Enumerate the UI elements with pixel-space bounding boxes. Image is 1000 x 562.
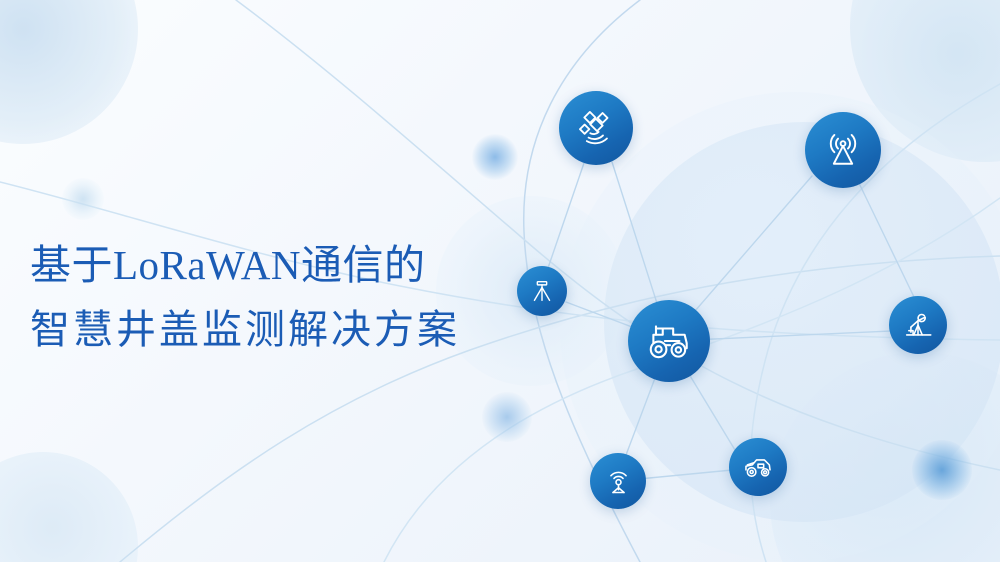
slide-title: 基于LoRaWAN通信的 智慧井盖监测解决方案 (30, 232, 460, 363)
background-blob-bottom-left (0, 452, 138, 562)
glow-dot-lower-right (912, 440, 972, 500)
satellite-dish-icon (575, 107, 617, 149)
signal-beacon-icon (602, 465, 635, 498)
glow-dot-left-edge (62, 178, 104, 220)
node-oil-pump[interactable] (889, 296, 947, 354)
background-blob-bottom-right (770, 352, 1000, 562)
oil-pumpjack-icon (901, 308, 935, 342)
node-satellite[interactable] (559, 91, 633, 165)
glow-dot-mid-left (482, 392, 532, 442)
background-blob-top-left (0, 0, 138, 144)
harvester-vehicle-icon (741, 450, 775, 484)
presentation-slide: 基于LoRaWAN通信的 智慧井盖监测解决方案 (0, 0, 1000, 562)
survey-tripod-icon (528, 277, 556, 305)
broadcast-antenna-icon (821, 128, 865, 172)
title-line-1: 基于LoRaWAN通信的 (30, 232, 460, 298)
node-antenna[interactable] (805, 112, 881, 188)
title-line-2: 智慧井盖监测解决方案 (30, 298, 460, 363)
tractor-icon (644, 316, 694, 366)
node-tripod[interactable] (517, 266, 567, 316)
node-beacon[interactable] (590, 453, 646, 509)
node-harvester[interactable] (729, 438, 787, 496)
node-tractor[interactable] (628, 300, 710, 382)
glow-dot-upper-center (472, 134, 518, 180)
